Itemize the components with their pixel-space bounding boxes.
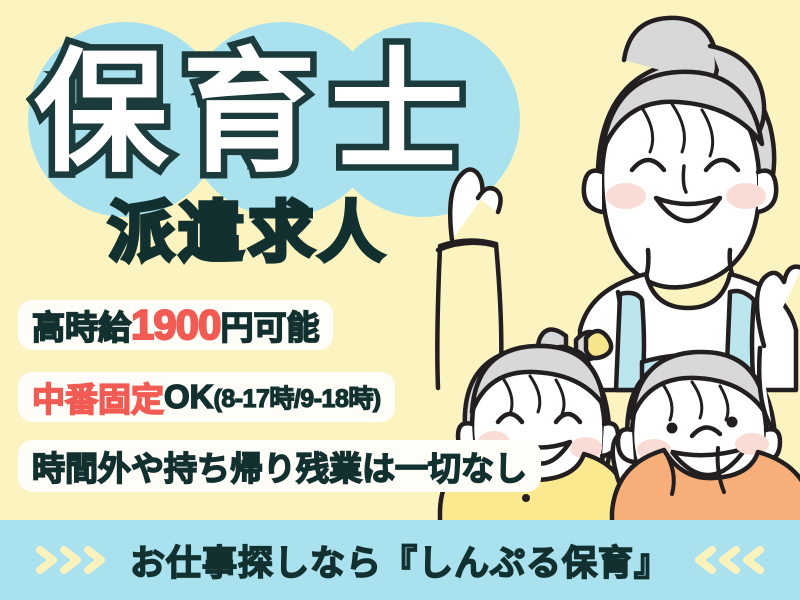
badge-shift-fixed: 中番固定 OK (8-17時/9-18時) [18,372,395,422]
badge-3-part-1: 時間外や持ち帰り残業は一切なし [32,442,527,490]
chevron-left-icon-group [688,543,768,577]
chevron-right-icon-group [32,543,112,577]
badge-1-part-3: 円可能 [220,301,319,349]
page-title: 保育士 [34,26,478,202]
badge-1-part-1: 高時給 [32,301,131,349]
chevron-left-icon [688,543,768,577]
badge-no-overtime: 時間外や持ち帰り残業は一切なし [18,440,541,492]
badge-1-wage-amount: 1900 [131,301,220,349]
page-subtitle: 派遣求人 [108,192,388,272]
cta-text: お仕事探しなら『しんぷる保育』 [130,535,670,586]
badge-hourly-wage: 高時給 1900 円可能 [18,300,333,350]
bottom-cta-bar: お仕事探しなら『しんぷる保育』 [0,520,800,600]
job-ad-banner: 保育士 派遣求人 高時給 1900 円可能 中番固定 OK (8-17時/9-1… [0,0,800,600]
chevron-right-icon [32,543,112,577]
badge-2-part-2: OK [164,378,214,416]
badge-2-part-1: 中番固定 [32,373,164,421]
badge-2-shift-hours: (8-17時/9-18時) [214,379,381,415]
